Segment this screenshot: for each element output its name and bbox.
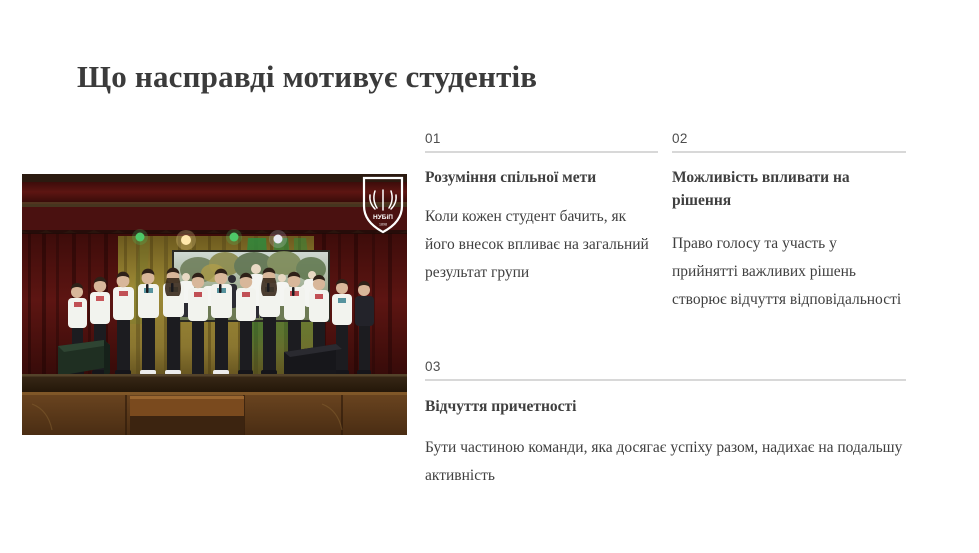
column-divider: [425, 151, 658, 153]
column-divider: [672, 151, 906, 153]
content-column-3: 03 Відчуття причетності Бути частиною ко…: [425, 358, 906, 490]
column-body: Бути частиною команди, яка досягає успіх…: [425, 434, 906, 490]
stage-photo-illustration: НУБіП 1898: [22, 174, 407, 435]
column-divider: [425, 379, 906, 381]
column-heading: Відчуття причетності: [425, 395, 906, 418]
content-column-1: 01 Розуміння спільної мети Коли кожен ст…: [425, 130, 658, 287]
logo-year: 1898: [379, 223, 387, 227]
stage-photo: НУБіП 1898: [22, 174, 407, 435]
column-heading: Можливість впливати на рішення: [672, 166, 906, 212]
column-number: 02: [672, 130, 906, 151]
column-heading: Розуміння спільної мети: [425, 166, 658, 189]
page-title: Що насправді мотивує студентів: [77, 57, 537, 97]
column-body: Коли кожен студент бачить, як його внесо…: [425, 203, 658, 287]
logo-text: НУБіП: [373, 213, 393, 221]
column-body: Право голосу та участь у прийнятті важли…: [672, 230, 906, 314]
column-number: 01: [425, 130, 658, 151]
content-column-2: 02 Можливість впливати на рішення Право …: [672, 130, 906, 314]
column-number: 03: [425, 358, 906, 379]
